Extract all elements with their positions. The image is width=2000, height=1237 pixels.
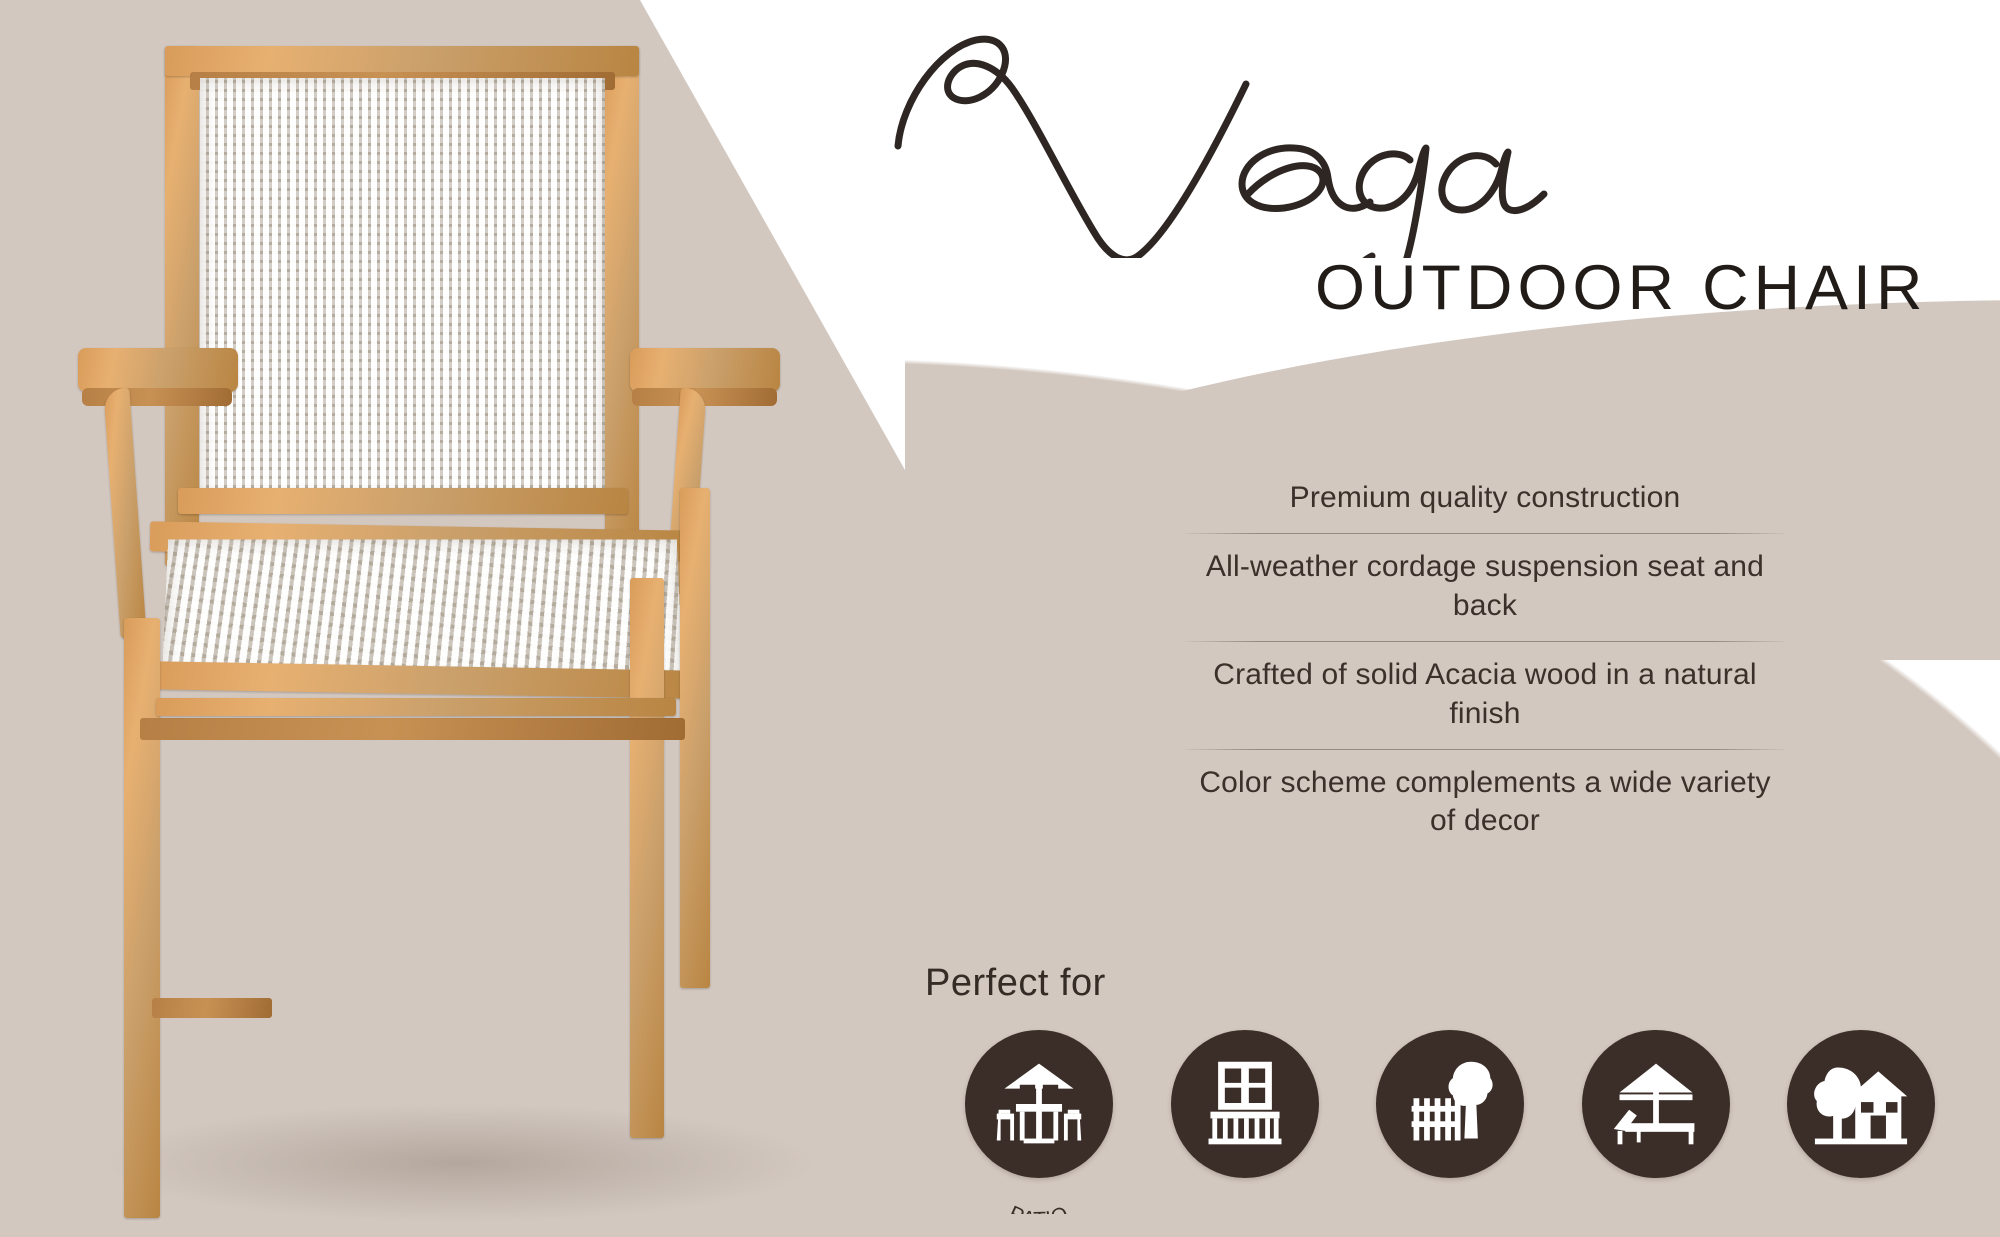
perfect-for-label: Perfect for: [925, 962, 1106, 1005]
feature-text: Premium quality construction: [1185, 479, 1785, 517]
feature-text: Color scheme complements a wide variety …: [1185, 764, 1785, 841]
badge-poolside: POOLSIDE: [1572, 1030, 1740, 1214]
svg-text:PATIO: PATIO: [1005, 1202, 1072, 1214]
badge-label-text: BALCONY: [1192, 1211, 1296, 1214]
garden-badge-circle: [1376, 1030, 1524, 1178]
patio-badge-label: PATIO: [955, 1172, 1123, 1214]
svg-text:BALCONY: BALCONY: [1192, 1211, 1296, 1214]
badge-label-text: GARDEN: [1403, 1212, 1498, 1214]
svg-text:BACKYARD: BACKYARD: [1803, 1212, 1919, 1214]
feature-item: Crafted of solid Acacia wood in a natura…: [1185, 642, 1785, 749]
badge-garden: GARDEN: [1366, 1030, 1534, 1214]
balcony-badge-circle: [1171, 1030, 1319, 1178]
svg-text:GARDEN: GARDEN: [1403, 1212, 1498, 1214]
patio-badge-circle: [965, 1030, 1113, 1178]
brand-script-title: [880, 18, 1580, 258]
feature-item: Premium quality construction: [1185, 465, 1785, 533]
patio-umbrella-table-icon: [991, 1056, 1087, 1152]
garden-fence-tree-icon: [1402, 1056, 1498, 1152]
balcony-badge-label: BALCONY: [1161, 1172, 1329, 1214]
svg-text:POOLSIDE: POOLSIDE: [1600, 1211, 1711, 1214]
badge-label-text: PATIO: [1005, 1202, 1072, 1214]
brand-subtitle: OUTDOOR CHAIR: [1315, 252, 1928, 324]
poolside-badge-circle: [1582, 1030, 1730, 1178]
feature-text: All-weather cordage suspension seat and …: [1185, 548, 1785, 625]
badge-label-text: BACKYARD: [1803, 1212, 1919, 1214]
feature-item: All-weather cordage suspension seat and …: [1185, 534, 1785, 641]
product-photo: [60, 18, 890, 1228]
poolside-lounger-umbrella-icon: [1608, 1056, 1704, 1152]
badge-label-text: POOLSIDE: [1600, 1211, 1711, 1214]
backyard-badge-circle: [1787, 1030, 1935, 1178]
feature-list: Premium quality construction All-weather…: [1185, 465, 1785, 857]
balcony-window-railing-icon: [1197, 1056, 1293, 1152]
feature-text: Crafted of solid Acacia wood in a natura…: [1185, 656, 1785, 733]
backyard-house-tree-icon: [1813, 1056, 1909, 1152]
badge-patio: PATIO: [955, 1030, 1123, 1214]
badge-balcony: BALCONY: [1161, 1030, 1329, 1214]
badge-backyard: BACKYARD: [1777, 1030, 1945, 1214]
perfect-for-badges: PATIO: [955, 1030, 1945, 1225]
product-banner: OUTDOOR CHAIR Premium quality constructi…: [0, 0, 2000, 1237]
backyard-badge-label: BACKYARD: [1777, 1172, 1945, 1214]
feature-item: Color scheme complements a wide variety …: [1185, 750, 1785, 857]
poolside-badge-label: POOLSIDE: [1572, 1172, 1740, 1214]
garden-badge-label: GARDEN: [1366, 1172, 1534, 1214]
